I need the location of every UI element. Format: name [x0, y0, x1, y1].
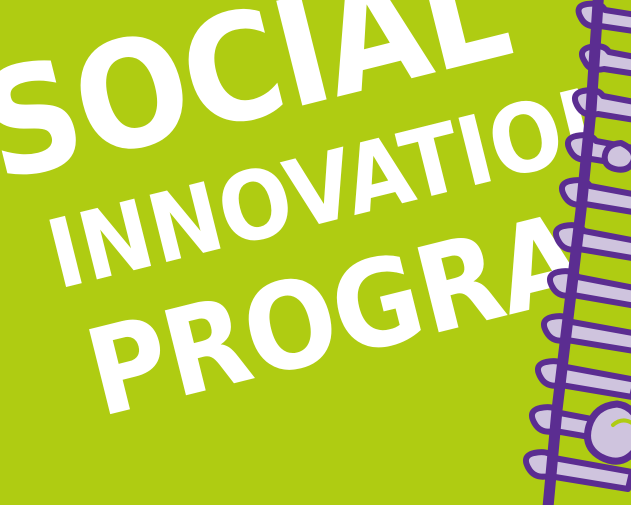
thumb-hand-nub — [605, 143, 631, 170]
spiral-notebook-illustration — [521, 0, 631, 505]
title-line-social: SOCIAL — [0, 0, 521, 204]
thumb-hand-shape — [588, 404, 631, 461]
poster-canvas: SOCIAL INNOVATION PROGRAM — [0, 0, 631, 505]
spiral-binding-svg — [521, 0, 631, 505]
